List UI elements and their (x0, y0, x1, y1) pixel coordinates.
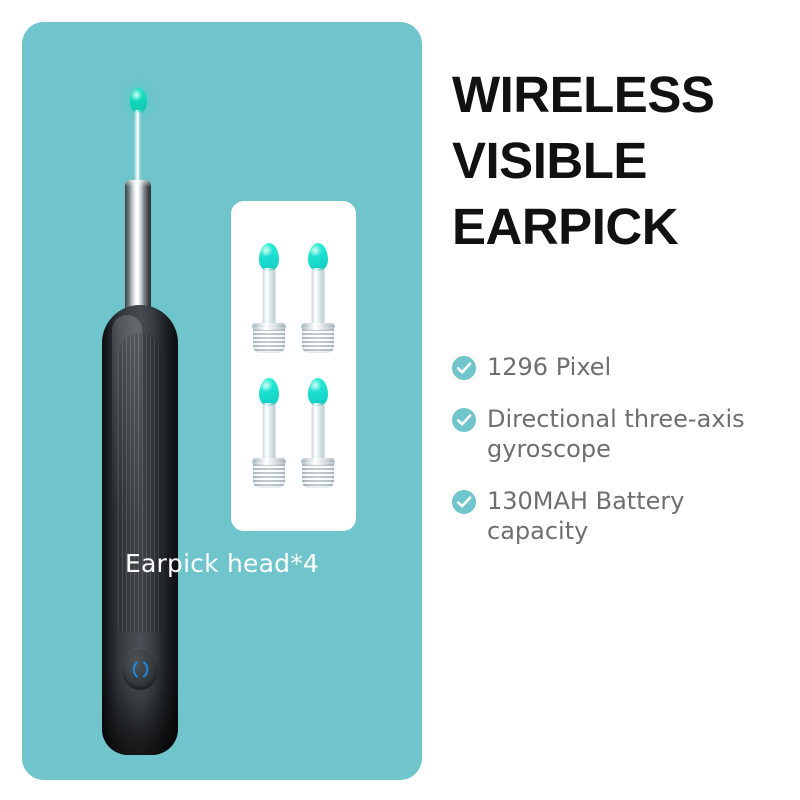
check-circle-icon (452, 356, 476, 380)
earpick-head-stem (263, 268, 276, 326)
replacement-heads-card (231, 201, 356, 531)
feature-item-gyroscope: Directional three-axis gyroscope (452, 404, 782, 464)
earpick-head-tip-icon (308, 378, 328, 406)
earpick-head-collar (302, 323, 334, 353)
headline-line-2: VISIBLE (452, 128, 782, 194)
list-item (301, 378, 335, 490)
feature-label: 130MAH Battery capacity (487, 486, 782, 546)
product-image-panel: Earpick head*4 (22, 22, 422, 780)
list-item (252, 378, 286, 490)
earpick-head-tip-icon (259, 378, 279, 406)
feature-label: Directional three-axis gyroscope (487, 404, 782, 464)
earpick-head-collar (302, 458, 334, 488)
earpick-head-collar (253, 323, 285, 353)
handle-grip-ribs (118, 333, 162, 633)
earpick-translucent-shaft (134, 110, 142, 186)
check-circle-icon (452, 408, 476, 432)
page-title: WIRELESS VISIBLE EARPICK (452, 62, 782, 260)
list-item (301, 243, 335, 355)
feature-label: 1296 Pixel (487, 352, 611, 382)
earpick-device (80, 62, 200, 762)
product-info-column: WIRELESS VISIBLE EARPICK 1296 Pixel Dire… (452, 0, 782, 800)
power-button[interactable] (122, 648, 158, 690)
earpick-head-stem (263, 403, 276, 461)
headline-line-3: EARPICK (452, 194, 782, 260)
feature-item-battery: 130MAH Battery capacity (452, 486, 782, 546)
earpick-head-stem (311, 268, 324, 326)
feature-list: 1296 Pixel Directional three-axis gyrosc… (452, 352, 782, 568)
replacement-heads-caption: Earpick head*4 (22, 549, 422, 578)
headline-line-1: WIRELESS (452, 62, 782, 128)
earpick-handle (102, 305, 178, 755)
earpick-head-tip-icon (308, 243, 328, 271)
earpick-head-stem (311, 403, 324, 461)
feature-item-pixel: 1296 Pixel (452, 352, 782, 382)
earpick-head-collar (253, 458, 285, 488)
power-icon (132, 659, 149, 680)
earpick-head-tip-icon (259, 243, 279, 271)
check-circle-icon (452, 490, 476, 514)
list-item (252, 243, 286, 355)
